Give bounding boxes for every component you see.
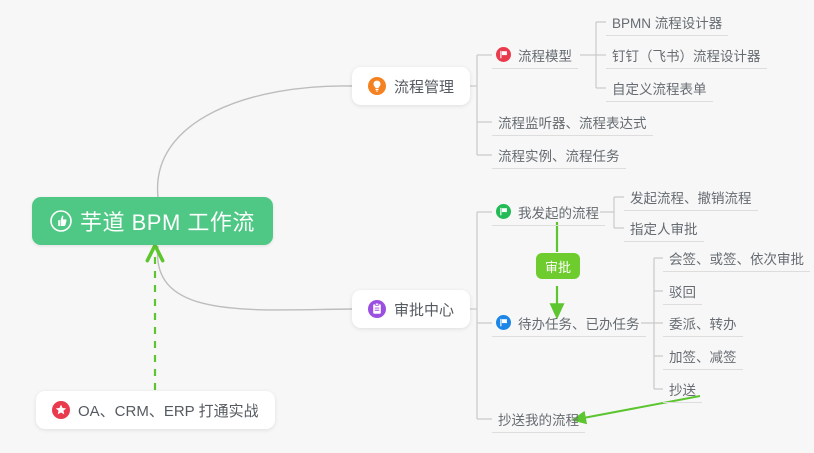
node-delegate-transfer[interactable]: 委派、转办 [663, 309, 743, 337]
node-label-reject: 驳回 [669, 281, 696, 301]
node-label-cc: 抄送 [669, 379, 696, 399]
node-dingtalk-feishu-designer[interactable]: 钉钉（飞书）流程设计器 [606, 41, 767, 69]
root-node-label: 芋道 BPM 工作流 [80, 205, 255, 237]
node-label-countersign-orsign-sequential: 会签、或签、依次审批 [669, 248, 804, 268]
flag-icon [496, 315, 511, 330]
node-label-assignee-approval: 指定人审批 [630, 218, 698, 238]
node-custom-process-form[interactable]: 自定义流程表单 [606, 74, 713, 102]
node-cc[interactable]: 抄送 [663, 375, 702, 403]
branch-label-approval-center: 审批中心 [394, 299, 454, 320]
node-countersign-orsign-sequential[interactable]: 会签、或签、依次审批 [663, 244, 810, 272]
node-label-todo-done-tasks: 待办任务、已办任务 [518, 313, 640, 333]
lightbulb-icon [368, 77, 386, 95]
connector-root-to-approval-center [158, 246, 352, 310]
node-cc-to-me-process[interactable]: 抄送我的流程 [492, 405, 585, 433]
root-node[interactable]: 芋道 BPM 工作流 [32, 197, 273, 245]
node-process-instance-task[interactable]: 流程实例、流程任务 [492, 141, 626, 169]
node-label-dingtalk-feishu-designer: 钉钉（飞书）流程设计器 [612, 45, 761, 65]
node-label-process-instance-task: 流程实例、流程任务 [498, 145, 620, 165]
flag-icon [496, 47, 511, 62]
node-my-initiated-process[interactable]: 我发起的流程 [492, 198, 605, 226]
node-add-remove-sign[interactable]: 加签、减签 [663, 342, 743, 370]
tag-label-approval: 审批 [545, 257, 571, 276]
connector-root-to-process-management [158, 86, 352, 197]
node-process-listener-expression[interactable]: 流程监听器、流程表达式 [492, 108, 653, 136]
node-label-delegate-transfer: 委派、转办 [669, 313, 737, 333]
branch-label-process-management: 流程管理 [394, 76, 454, 97]
node-label-cc-to-me-process: 抄送我的流程 [498, 409, 579, 429]
node-label-process-model: 流程模型 [518, 45, 572, 65]
branch-node-process-management[interactable]: 流程管理 [352, 67, 470, 105]
node-bpmn-designer[interactable]: BPMN 流程设计器 [606, 8, 728, 36]
clipboard-icon [368, 300, 386, 318]
node-label-start-cancel-process: 发起流程、撤销流程 [630, 187, 752, 207]
node-reject[interactable]: 驳回 [663, 277, 702, 305]
mindmap-canvas: 芋道 BPM 工作流 流程管理 流程模型 BPMN 流程设计器 钉钉（飞书）流程 [0, 0, 814, 453]
node-start-cancel-process[interactable]: 发起流程、撤销流程 [624, 183, 758, 211]
tag-approval: 审批 [536, 253, 580, 279]
node-label-custom-process-form: 自定义流程表单 [612, 78, 707, 98]
node-label-bpmn-designer: BPMN 流程设计器 [612, 12, 722, 32]
floating-node-oa-crm-erp[interactable]: OA、CRM、ERP 打通实战 [36, 391, 275, 429]
branch-node-approval-center[interactable]: 审批中心 [352, 290, 470, 328]
node-process-model[interactable]: 流程模型 [492, 41, 578, 69]
node-label-my-initiated-process: 我发起的流程 [518, 202, 599, 222]
thumbs-up-icon [50, 210, 72, 232]
node-label-add-remove-sign: 加签、减签 [669, 346, 737, 366]
node-label-process-listener-expression: 流程监听器、流程表达式 [498, 112, 647, 132]
flag-icon [496, 204, 511, 219]
node-todo-done-tasks[interactable]: 待办任务、已办任务 [492, 309, 646, 337]
node-assignee-approval[interactable]: 指定人审批 [624, 214, 704, 242]
star-icon [52, 401, 70, 419]
floating-node-label-oa-crm-erp: OA、CRM、ERP 打通实战 [78, 400, 259, 421]
